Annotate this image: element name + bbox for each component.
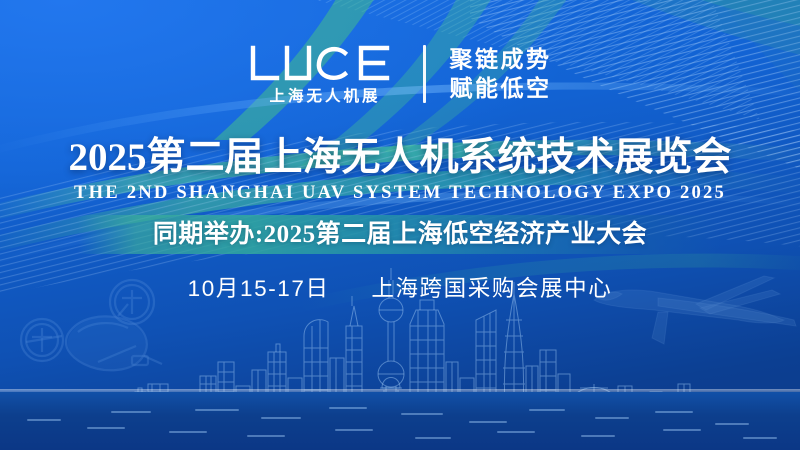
logo-subtitle: 上海无人机展	[266, 89, 380, 105]
slogan-line-2: 赋能低空	[450, 74, 552, 103]
event-venue: 上海跨国采购会展中心	[371, 276, 612, 301]
concurrent-event-banner: 同期举办:2025第二届上海低空经济产业大会	[78, 215, 722, 254]
logo-block: 上海无人机展 聚链成势 赋能低空	[0, 44, 800, 105]
banner-content: 上海无人机展 聚链成势 赋能低空 2025第二届上海无人机系统技术展览会 THE…	[0, 0, 800, 450]
event-date: 10月15-17日	[188, 276, 330, 301]
luce-logo-mark	[249, 44, 399, 84]
logo-lockup: 上海无人机展	[249, 44, 399, 105]
page-title: 2025第二届上海无人机系统技术展览会	[0, 138, 800, 177]
logo-slogan: 聚链成势 赋能低空	[450, 45, 552, 104]
concurrent-event-label: 同期举办:2025第二届上海低空经济产业大会	[153, 222, 647, 247]
slogan-line-1: 聚链成势	[450, 45, 552, 74]
page-subtitle-en: THE 2ND SHANGHAI UAV SYSTEM TECHNOLOGY E…	[0, 184, 800, 203]
expo-banner: 上海无人机展 聚链成势 赋能低空 2025第二届上海无人机系统技术展览会 THE…	[0, 0, 800, 450]
event-meta: 10月15-17日 上海跨国采购会展中心	[0, 278, 800, 301]
logo-divider	[423, 45, 426, 103]
